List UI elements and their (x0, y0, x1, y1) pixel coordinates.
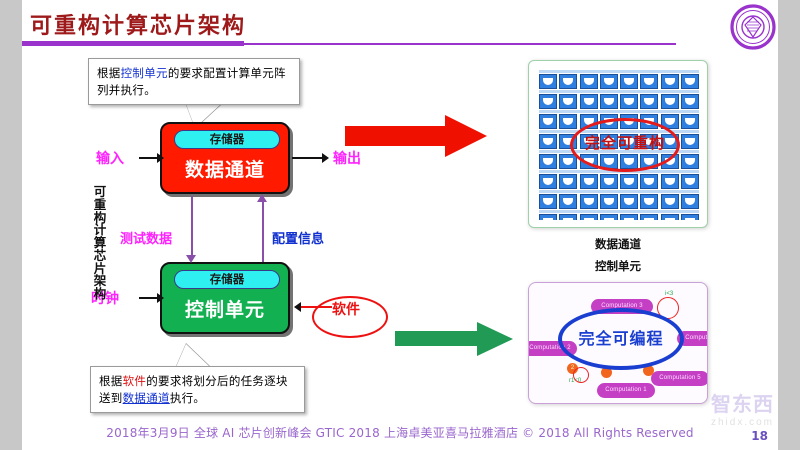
array-cell (661, 194, 679, 209)
fully-reconfigurable-label: 完全可重构 (570, 132, 680, 153)
datapath-memory-pill: 存储器 (174, 130, 280, 149)
array-row (539, 94, 699, 109)
array-interconnect-wire (539, 190, 699, 193)
slide-canvas: 可重构计算芯片架构 根据控制单元的要求配置计算单元阵列并执行。 根据软件的要求将… (0, 0, 800, 450)
array-cell (640, 194, 658, 209)
config-info-line (262, 200, 264, 262)
array-row (539, 174, 699, 189)
array-row (539, 194, 699, 209)
array-cell (681, 114, 699, 129)
array-cell (539, 174, 557, 189)
array-cell (580, 214, 598, 220)
output-connector-line (292, 157, 325, 159)
control-label: 控制单元 (162, 295, 288, 322)
datapath-label: 数据通道 (162, 155, 288, 182)
arrow-to-array (345, 126, 485, 146)
label-test-data: 测试数据 (120, 228, 172, 247)
callout-top-text-b: 的要求配置计算单 (168, 66, 262, 80)
label-output: 输出 (333, 148, 361, 168)
array-cell (559, 214, 577, 220)
array-cell (559, 194, 577, 209)
callout-bottom-text-b: 的要求将划分后的任务 (146, 374, 264, 388)
array-cell (681, 134, 699, 149)
block-datapath[interactable]: 存储器 数据通道 (160, 122, 290, 194)
control-memory-pill: 存储器 (174, 270, 280, 289)
array-cell (620, 174, 638, 189)
array-cell (580, 94, 598, 109)
label-software: 软件 (332, 299, 360, 319)
array-cell (580, 194, 598, 209)
input-arrowhead (157, 153, 164, 163)
vertical-title-char: 构 (92, 288, 108, 301)
page-gutter-right (778, 0, 800, 450)
array-cell (600, 174, 618, 189)
array-cell (539, 94, 557, 109)
arrow-to-graph-head (477, 322, 513, 356)
callout-top-highlight: 控制单元 (121, 66, 168, 80)
array-cell (681, 174, 699, 189)
block-control[interactable]: 存储器 控制单元 (160, 262, 290, 334)
array-cell (661, 214, 679, 220)
callout-bottom-highlight-software: 软件 (123, 374, 147, 388)
array-row (539, 74, 699, 89)
callout-bottom-text-a: 根据 (99, 374, 123, 388)
array-cell (580, 74, 598, 89)
array-cell (600, 74, 618, 89)
panel-label-control: 控制单元 (528, 258, 708, 274)
arrow-to-array-head (445, 115, 487, 157)
array-interconnect-wire (539, 210, 699, 213)
array-cell (559, 94, 577, 109)
array-row (539, 214, 699, 220)
callout-top-text-a: 根据 (97, 66, 121, 80)
array-cell (661, 174, 679, 189)
graph-node: Computation 1 (597, 383, 655, 398)
array-cell (681, 74, 699, 89)
page-gutter-left (0, 0, 22, 450)
array-cell (559, 114, 577, 129)
arrow-to-array-shaft (345, 126, 453, 146)
array-cell (559, 74, 577, 89)
array-cell (681, 194, 699, 209)
array-cell (539, 114, 557, 129)
title-rule-thin (244, 43, 676, 45)
array-cell (539, 74, 557, 89)
output-arrowhead (322, 153, 329, 163)
array-cell (640, 74, 658, 89)
callout-bottom-text-d: 执行。 (170, 391, 205, 405)
arrow-to-graph (395, 331, 513, 346)
array-cell (539, 154, 557, 169)
university-seal-icon (730, 4, 776, 50)
graph-node: Computation 5 (651, 371, 708, 386)
array-cell (539, 214, 557, 220)
array-cell (681, 154, 699, 169)
graph-loop-arc (573, 367, 589, 383)
array-cell (600, 94, 618, 109)
label-input: 输入 (96, 148, 124, 168)
array-cell (681, 214, 699, 220)
array-cell (620, 214, 638, 220)
array-cell (661, 74, 679, 89)
array-interconnect-wire (539, 110, 699, 113)
callout-bottom-highlight-datapath: 数据通道 (123, 391, 170, 405)
arrow-to-graph-shaft (395, 331, 483, 346)
array-cell (620, 74, 638, 89)
panel-label-datapath: 数据通道 (528, 236, 708, 252)
array-cell (539, 134, 557, 149)
array-cell (640, 174, 658, 189)
array-cell (580, 174, 598, 189)
title-rule-thick (22, 41, 244, 46)
array-interconnect-wire (539, 70, 699, 73)
clock-arrowhead (157, 293, 164, 303)
array-cell (600, 214, 618, 220)
array-cell (640, 94, 658, 109)
array-interconnect-wire (539, 90, 699, 93)
array-cell (620, 94, 638, 109)
test-data-arrowhead (186, 255, 196, 263)
array-cell (559, 174, 577, 189)
array-cell (640, 214, 658, 220)
array-cell (661, 94, 679, 109)
array-cell (600, 194, 618, 209)
callout-bottom: 根据软件的要求将划分后的任务逐块送到数据通道执行。 (90, 366, 305, 413)
footer-text: 2018年3月9日 全球 AI 芯片创新峰会 GTIC 2018 上海卓美亚喜马… (0, 424, 800, 441)
callout-top: 根据控制单元的要求配置计算单元阵列并执行。 (88, 58, 300, 105)
software-connector-line (298, 306, 332, 308)
label-vertical-architecture: 可重构计算芯片架构 (92, 186, 108, 301)
test-data-line (191, 196, 193, 258)
page-number: 18 (751, 429, 768, 443)
array-cell (539, 194, 557, 209)
array-cell (620, 194, 638, 209)
page-title: 可重构计算芯片架构 (30, 8, 246, 40)
callout-bottom-tail (176, 344, 210, 367)
config-info-arrowhead (257, 194, 267, 202)
software-arrowhead (294, 302, 301, 312)
array-cell (681, 94, 699, 109)
label-config-info: 配置信息 (272, 228, 324, 247)
fully-programmable-label: 完全可编程 (558, 325, 684, 349)
